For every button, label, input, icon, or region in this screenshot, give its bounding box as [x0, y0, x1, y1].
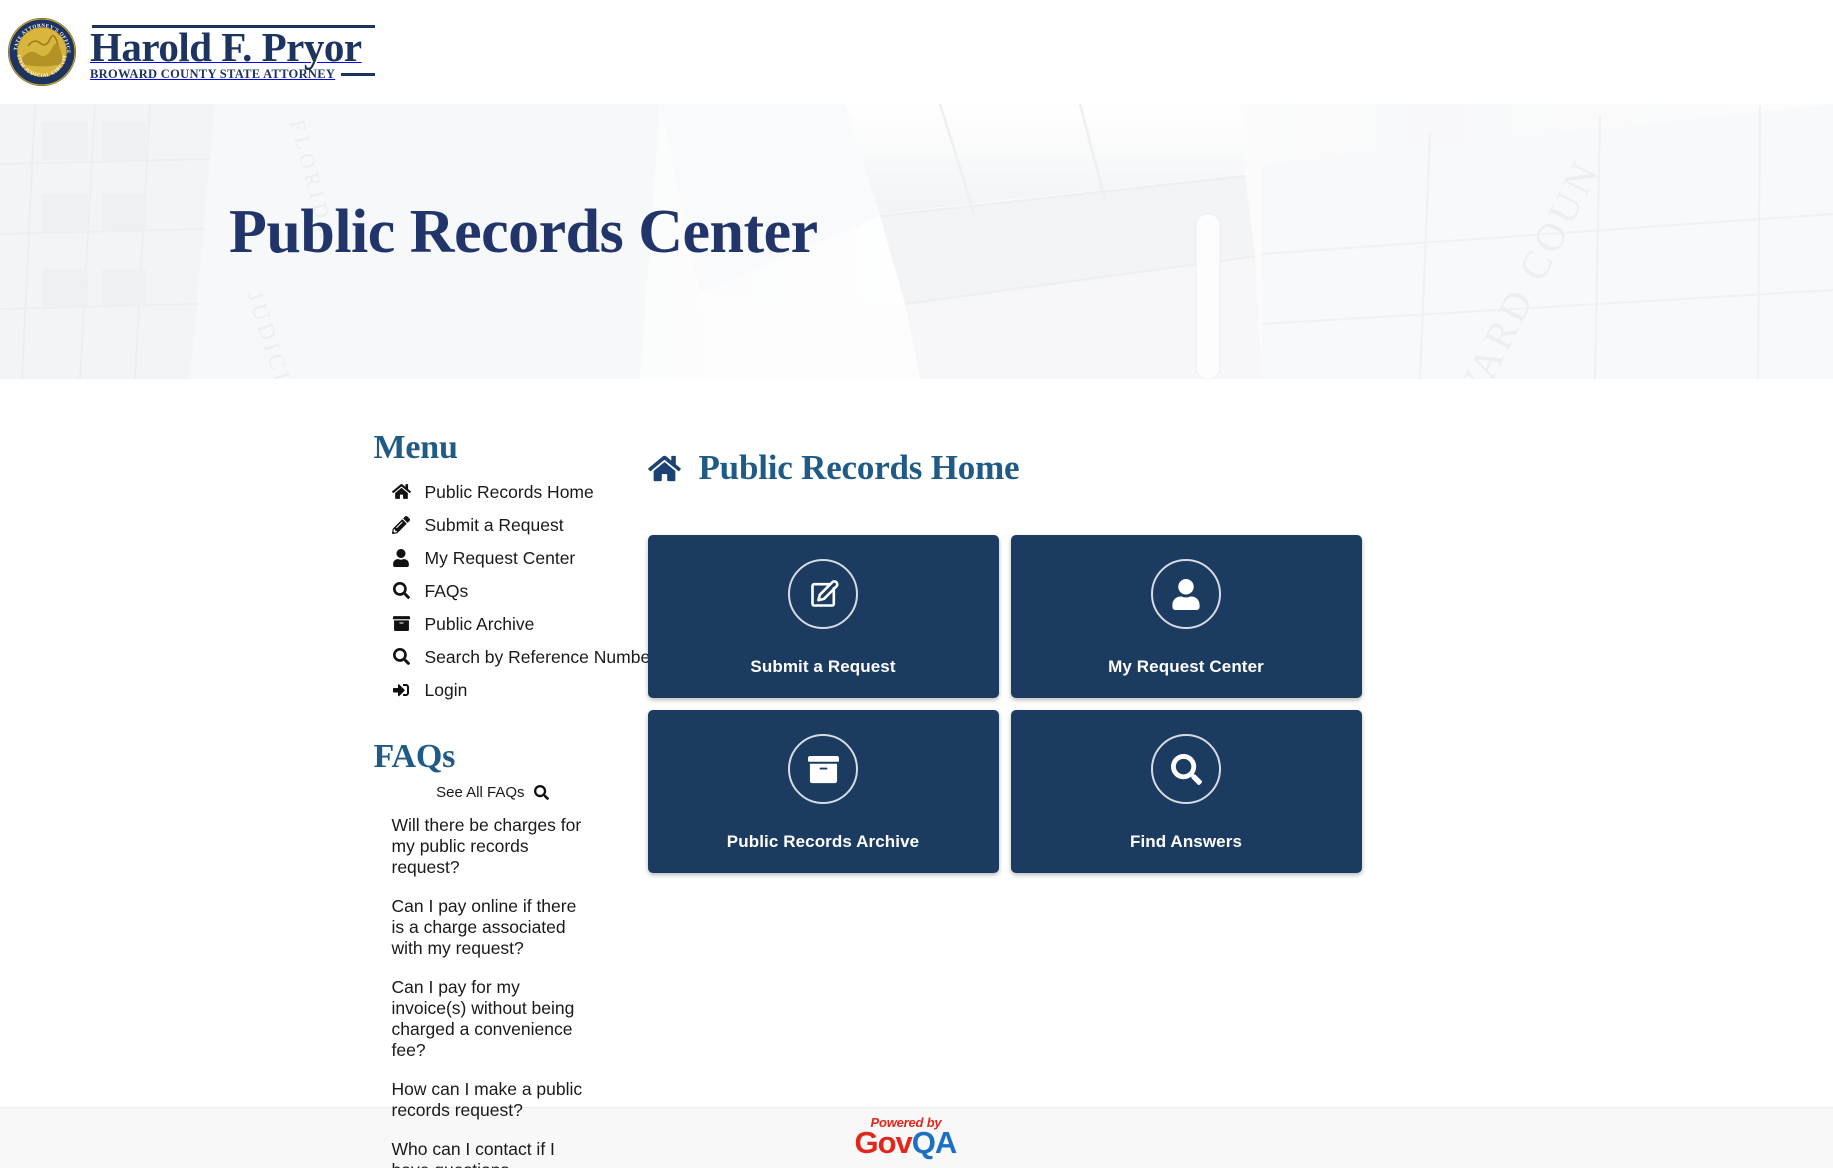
tile-my-request-center[interactable]: My Request Center — [1011, 535, 1362, 698]
see-all-faqs-label: See All FAQs — [436, 784, 524, 801]
govqa-gov-text: Gov — [855, 1125, 912, 1160]
govqa-qa-text: QA — [912, 1125, 957, 1160]
sidebar-item-submit-a-request[interactable]: Submit a Request — [392, 508, 587, 541]
brand-logo-link[interactable]: STATE ATTORNEY'S OFFICE 17TH JUDICIAL CI… — [6, 16, 375, 88]
faq-list-item[interactable]: Will there be charges for my public reco… — [392, 815, 587, 878]
sidebar-item-public-records-home[interactable]: Public Records Home — [392, 475, 587, 508]
search-icon — [392, 581, 411, 600]
sidebar-item-faqs[interactable]: FAQs — [392, 574, 587, 607]
search-icon — [392, 647, 411, 666]
home-icon — [648, 454, 681, 483]
home-icon — [392, 482, 411, 501]
pencil-square-icon — [788, 559, 858, 629]
sidebar-item-label: FAQs — [425, 581, 469, 601]
page-title: Public Records Center — [229, 199, 818, 265]
faq-list: Will there be charges for my public reco… — [374, 815, 587, 1168]
faq-list-item[interactable]: Can I pay for my invoice(s) without bein… — [392, 977, 587, 1061]
quick-links-grid: Submit a Request My Request Center Publi… — [648, 535, 1362, 873]
pencil-square-icon — [392, 515, 411, 534]
brand-name: Harold F. Pryor — [90, 24, 362, 70]
archive-box-icon — [392, 614, 411, 633]
user-icon — [392, 548, 411, 567]
tile-public-records-archive[interactable]: Public Records Archive — [648, 710, 999, 873]
search-icon — [534, 785, 549, 800]
search-icon — [1151, 734, 1221, 804]
sidebar-item-label: Login — [425, 680, 468, 700]
main-heading: Public Records Home — [648, 449, 1637, 487]
site-header: STATE ATTORNEY'S OFFICE 17TH JUDICIAL CI… — [0, 0, 1833, 104]
brand-rule-bottom — [341, 73, 375, 76]
brand-rule-top — [92, 25, 375, 28]
brand-wordmark: Harold F. Pryor BROWARD COUNTY STATE ATT… — [90, 23, 375, 82]
tile-label: Find Answers — [1011, 832, 1362, 852]
see-all-faqs-link[interactable]: See All FAQs — [374, 784, 587, 801]
tile-submit-a-request[interactable]: Submit a Request — [648, 535, 999, 698]
main-heading-label: Public Records Home — [699, 449, 1020, 487]
sidebar-item-label: My Request Center — [425, 548, 576, 568]
faq-list-item[interactable]: Who can I contact if I have questions re… — [392, 1139, 587, 1168]
page-body: Menu Public Records Home Submit a Reques… — [0, 379, 1833, 1107]
sidebar-item-search-by-reference-number[interactable]: Search by Reference Number — [392, 640, 587, 673]
tile-label: Submit a Request — [648, 657, 999, 677]
sidebar-menu: Public Records Home Submit a Request My … — [374, 475, 587, 706]
menu-heading: Menu — [374, 429, 587, 467]
sidebar: Menu Public Records Home Submit a Reques… — [197, 429, 587, 1168]
faq-list-item[interactable]: Can I pay online if there is a charge as… — [392, 896, 587, 959]
brand-subtitle: BROWARD COUNTY STATE ATTORNEY — [90, 67, 335, 82]
main-content: Public Records Home Submit a Request My … — [587, 429, 1637, 873]
faq-heading: FAQs — [374, 738, 587, 776]
faq-section: FAQs See All FAQs Will there be charges … — [374, 738, 587, 1168]
tile-label: My Request Center — [1011, 657, 1362, 677]
archive-box-icon — [788, 734, 858, 804]
tile-find-answers[interactable]: Find Answers — [1011, 710, 1362, 873]
govqa-logo[interactable]: Powered by GovQA — [855, 1114, 979, 1162]
sidebar-item-label: Public Records Home — [425, 482, 594, 502]
sidebar-item-label: Public Archive — [425, 614, 535, 634]
sidebar-item-label: Submit a Request — [425, 515, 564, 535]
sidebar-item-public-archive[interactable]: Public Archive — [392, 607, 587, 640]
state-attorney-seal-icon: STATE ATTORNEY'S OFFICE 17TH JUDICIAL CI… — [6, 16, 78, 88]
tile-label: Public Records Archive — [648, 832, 999, 852]
sidebar-item-my-request-center[interactable]: My Request Center — [392, 541, 587, 574]
faq-list-item[interactable]: How can I make a public records request? — [392, 1079, 587, 1121]
sidebar-item-login[interactable]: Login — [392, 673, 587, 706]
sign-in-icon — [392, 680, 411, 699]
hero-banner: FLORIDA JUDICIAL COMPLEX BROWARD COUN Pu… — [0, 104, 1833, 379]
user-icon — [1151, 559, 1221, 629]
